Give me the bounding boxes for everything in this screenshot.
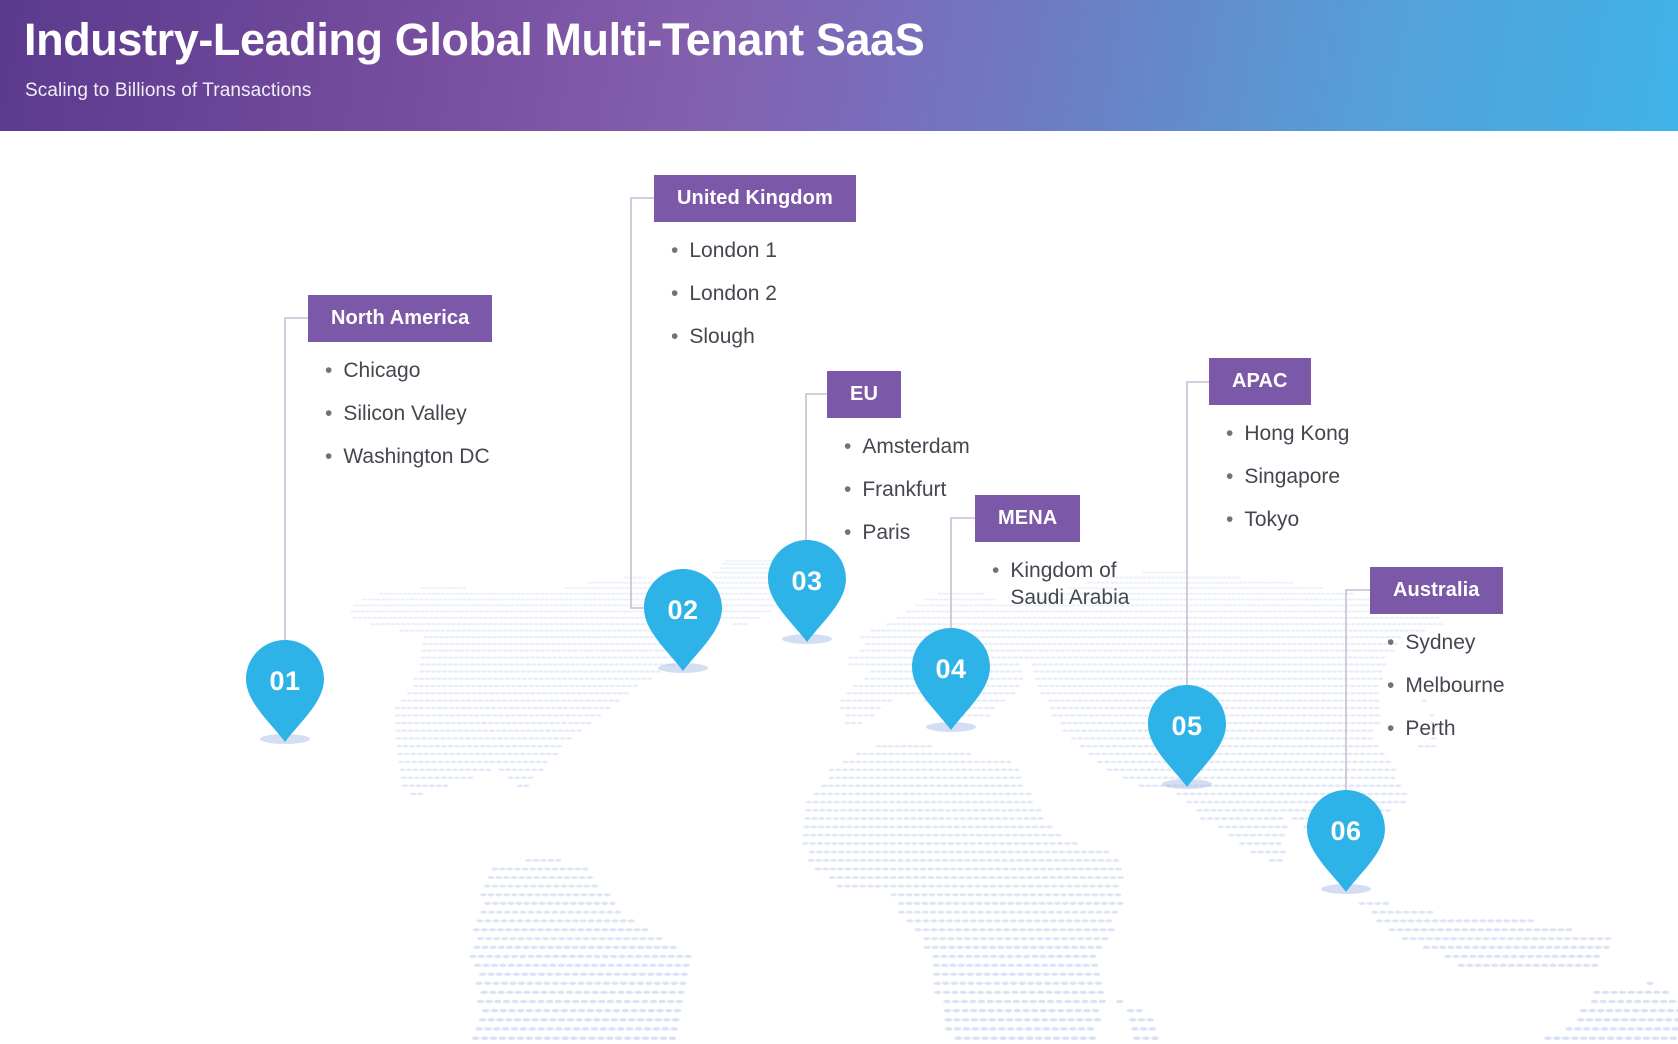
bullet-icon: • xyxy=(1387,630,1394,657)
list-item-label: Tokyo xyxy=(1244,507,1299,534)
region-list-australia: •Sydney •Melbourne •Perth xyxy=(1384,630,1505,743)
slide-canvas: Industry-Leading Global Multi-Tenant Saa… xyxy=(0,0,1678,1044)
bullet-icon: • xyxy=(671,324,678,351)
list-item: •Tokyo xyxy=(1223,507,1349,534)
bullet-icon: • xyxy=(671,238,678,265)
region-badge-eu[interactable]: EU xyxy=(827,371,901,418)
list-item-label: Hong Kong xyxy=(1244,421,1349,448)
list-item: •Paris xyxy=(841,520,970,547)
list-item: •Singapore xyxy=(1223,464,1349,491)
region-apac: APAC •Hong Kong •Singapore •Tokyo xyxy=(1209,358,1349,534)
page-title: Industry-Leading Global Multi-Tenant Saa… xyxy=(24,14,924,66)
region-list-north-america: •Chicago •Silicon Valley •Washington DC xyxy=(322,358,492,471)
bullet-icon: • xyxy=(844,477,851,504)
list-item-label: London 1 xyxy=(689,238,777,265)
map-pin-03[interactable]: 03 xyxy=(768,540,846,645)
list-item: •London 1 xyxy=(668,238,856,265)
page-subtitle: Scaling to Billions of Transactions xyxy=(25,80,312,102)
list-item: •Chicago xyxy=(322,358,492,385)
region-badge-united-kingdom[interactable]: United Kingdom xyxy=(654,175,856,222)
bullet-icon: • xyxy=(844,434,851,461)
bullet-icon: • xyxy=(325,444,332,471)
bullet-icon: • xyxy=(671,281,678,308)
map-pin-number: 01 xyxy=(246,666,324,697)
list-item-label: Paris xyxy=(862,520,910,547)
region-badge-apac[interactable]: APAC xyxy=(1209,358,1311,405)
list-item: •Hong Kong xyxy=(1223,421,1349,448)
bullet-icon: • xyxy=(1387,673,1394,700)
list-item-label: Frankfurt xyxy=(862,477,946,504)
list-item-label: Chicago xyxy=(343,358,420,385)
region-list-mena: •Kingdom of Saudi Arabia xyxy=(989,558,1129,612)
region-badge-mena[interactable]: MENA xyxy=(975,495,1080,542)
region-australia: Australia •Sydney •Melbourne •Perth xyxy=(1370,567,1505,743)
region-list-apac: •Hong Kong •Singapore •Tokyo xyxy=(1223,421,1349,534)
bullet-icon: • xyxy=(1226,421,1233,448)
list-item-label: Perth xyxy=(1405,716,1455,743)
list-item: •Silicon Valley xyxy=(322,401,492,428)
map-pin-number: 03 xyxy=(768,566,846,597)
bullet-icon: • xyxy=(1226,507,1233,534)
list-item-label: Slough xyxy=(689,324,754,351)
map-pin-number: 05 xyxy=(1148,711,1226,742)
bullet-icon: • xyxy=(325,358,332,385)
list-item: •London 2 xyxy=(668,281,856,308)
map-pin-number: 04 xyxy=(912,654,990,685)
bullet-icon: • xyxy=(1226,464,1233,491)
bullet-icon: • xyxy=(1387,716,1394,743)
region-list-eu: •Amsterdam •Frankfurt •Paris xyxy=(841,434,970,547)
map-pin-01[interactable]: 01 xyxy=(246,640,324,745)
list-item: •Melbourne xyxy=(1384,673,1505,700)
list-item-label: Kingdom of Saudi Arabia xyxy=(1010,558,1129,612)
list-item-label: Silicon Valley xyxy=(343,401,466,428)
list-item: •Amsterdam xyxy=(841,434,970,461)
list-item: •Perth xyxy=(1384,716,1505,743)
map-pin-02[interactable]: 02 xyxy=(644,569,722,674)
map-pin-number: 02 xyxy=(644,595,722,626)
list-item-label: London 2 xyxy=(689,281,777,308)
map-pin-04[interactable]: 04 xyxy=(912,628,990,733)
header-banner: Industry-Leading Global Multi-Tenant Saa… xyxy=(0,0,1678,131)
list-item: •Slough xyxy=(668,324,856,351)
map-pin-06[interactable]: 06 xyxy=(1307,790,1385,895)
region-north-america: North America •Chicago •Silicon Valley •… xyxy=(308,295,492,471)
map-pin-05[interactable]: 05 xyxy=(1148,685,1226,790)
list-item-label: Sydney xyxy=(1405,630,1475,657)
list-item: •Kingdom of Saudi Arabia xyxy=(989,558,1129,612)
region-united-kingdom: United Kingdom •London 1 •London 2 •Slou… xyxy=(654,175,856,351)
list-item: •Sydney xyxy=(1384,630,1505,657)
bullet-icon: • xyxy=(992,558,999,585)
list-item-label: Melbourne xyxy=(1405,673,1504,700)
region-badge-australia[interactable]: Australia xyxy=(1370,567,1503,614)
list-item-label: Washington DC xyxy=(343,444,489,471)
list-item: •Washington DC xyxy=(322,444,492,471)
list-item-label: Singapore xyxy=(1244,464,1340,491)
list-item-label: Amsterdam xyxy=(862,434,969,461)
region-list-united-kingdom: •London 1 •London 2 •Slough xyxy=(668,238,856,351)
region-mena: MENA •Kingdom of Saudi Arabia xyxy=(975,495,1129,612)
bullet-icon: • xyxy=(325,401,332,428)
map-pin-number: 06 xyxy=(1307,816,1385,847)
region-eu: EU •Amsterdam •Frankfurt •Paris xyxy=(827,371,970,547)
list-item: •Frankfurt xyxy=(841,477,970,504)
region-badge-north-america[interactable]: North America xyxy=(308,295,492,342)
